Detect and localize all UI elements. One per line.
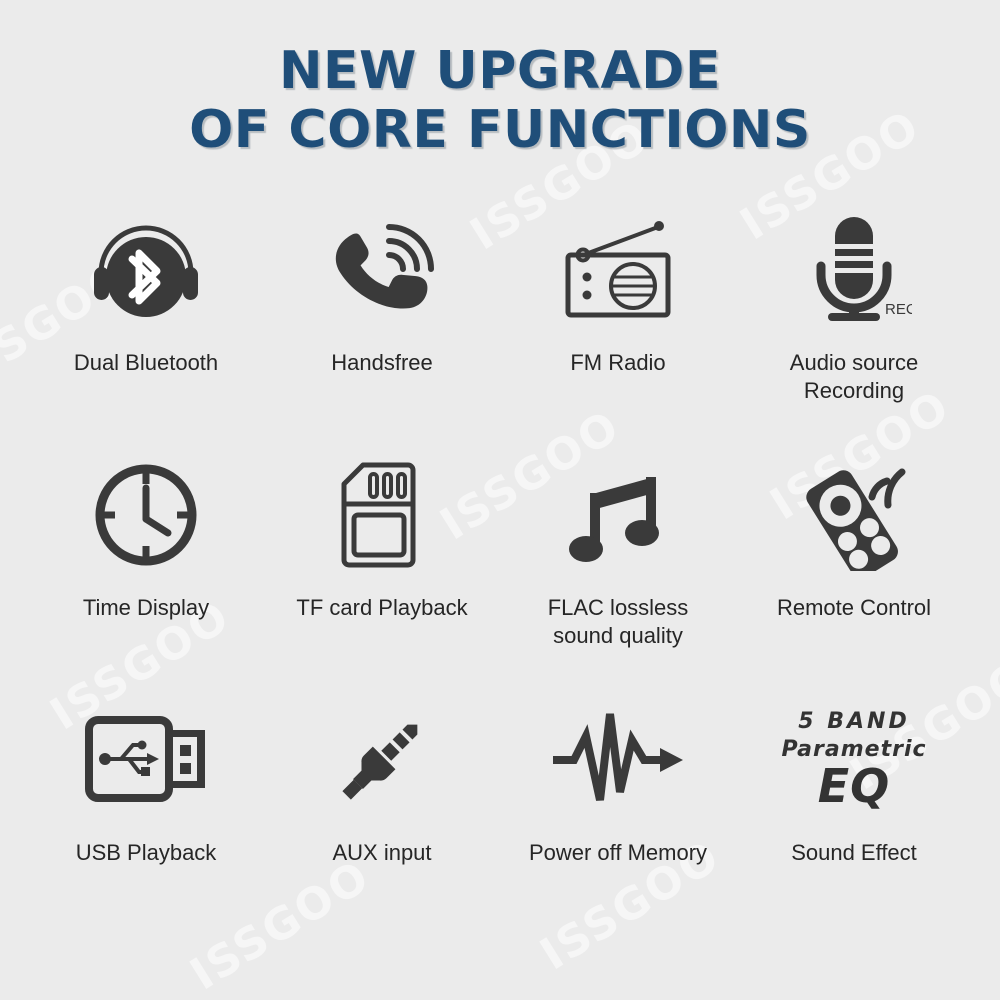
feature-label: Power off Memory [529,839,707,868]
icon-container [332,453,432,578]
waveform-arrow-icon [548,708,688,813]
icon-container [90,453,202,578]
feature-item-handsfree: Handsfree [264,208,500,453]
usb-drive-icon [81,710,211,810]
feature-label: FM Radio [570,349,665,378]
microphone-rec-icon: REC [797,214,912,326]
feature-item-power-off-memory: Power off Memory [500,698,736,943]
feature-label: Sound Effect [791,839,917,868]
feature-label: Time Display [83,594,209,623]
rec-text-label: REC [885,301,912,318]
feature-label: AUX input [332,839,431,868]
feature-item-remote-control: Remote Control [736,453,972,698]
radio-icon [558,215,678,325]
icon-container: REC [797,208,912,333]
poster-page: NEW UPGRADE OF CORE FUNCTIONS Dual Blu [0,0,1000,1000]
phone-handset-signal-icon [325,215,440,325]
bluetooth-headphones-icon [87,215,205,325]
sd-card-icon [332,459,432,571]
feature-label: USB Playback [76,839,217,868]
icon-container: 5 BAND Parametric EQ [781,698,926,823]
feature-item-aux-input: AUX input [264,698,500,943]
page-title: NEW UPGRADE OF CORE FUNCTIONS [0,0,1000,160]
feature-item-usb-playback: USB Playback [28,698,264,943]
audio-jack-icon [325,704,440,816]
feature-label: Audio source Recording [790,349,918,406]
icon-container [568,453,668,578]
icon-container [325,698,440,823]
feature-item-fm-radio: FM Radio [500,208,736,453]
feature-grid: Dual Bluetooth Handsfree [0,208,1000,943]
feature-item-audio-source-recording: REC Audio source Recording [736,208,972,453]
page-title-line-2: OF CORE FUNCTIONS [0,101,1000,160]
feature-label: Dual Bluetooth [74,349,218,378]
page-title-line-1: NEW UPGRADE [0,42,1000,101]
eq-line-3: EQ [818,763,891,809]
eq-line-2: Parametric [781,739,926,761]
feature-label: FLAC lossless sound quality [548,594,689,651]
feature-item-time-display: Time Display [28,453,264,698]
remote-control-icon [794,459,914,571]
icon-container [558,208,678,333]
parametric-eq-text-icon: 5 BAND Parametric EQ [781,711,926,809]
icon-container [81,698,211,823]
icon-container [794,453,914,578]
feature-item-dual-bluetooth: Dual Bluetooth [28,208,264,453]
feature-item-sound-effect: 5 BAND Parametric EQ Sound Effect [736,698,972,943]
icon-container [548,698,688,823]
feature-label: Remote Control [777,594,931,623]
eq-line-1: 5 BAND [798,711,909,733]
icon-container [87,208,205,333]
music-note-icon [568,459,668,571]
feature-item-tf-card-playback: TF card Playback [264,453,500,698]
feature-item-flac-lossless: FLAC lossless sound quality [500,453,736,698]
clock-icon [90,459,202,571]
icon-container [325,208,440,333]
feature-label: TF card Playback [296,594,467,623]
feature-label: Handsfree [331,349,433,378]
